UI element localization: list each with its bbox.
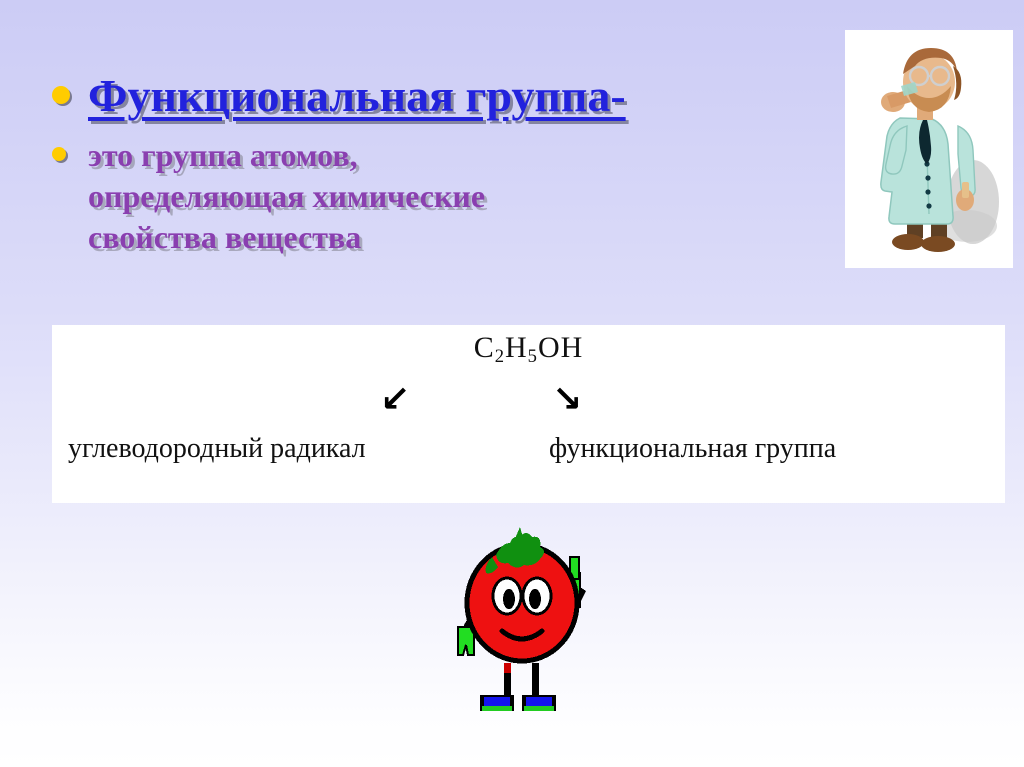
bullet-dot-icon (52, 147, 66, 161)
arrow-down-right-icon: ↘ (552, 382, 582, 418)
bullet-dot-icon (52, 86, 70, 104)
formula-sub-2: 2 (495, 346, 505, 367)
tomato-character-frame (452, 523, 612, 728)
bullet-text-primary: Функциональная группа- (88, 72, 626, 121)
formula-h: H (505, 331, 528, 364)
bullet-list: Функциональная группа- это группа атомов… (52, 72, 852, 258)
label-hydrocarbon-radical: углеводородный радикал (68, 433, 366, 465)
tomato-character-illustration (452, 523, 612, 728)
arrow-down-left-icon: ↙ (380, 382, 410, 418)
formula-panel: C2H5OH ↙ ↘ углеводородный радикал функци… (52, 325, 1005, 503)
scientist-image-frame (845, 30, 1013, 268)
formula-oh: OH (538, 331, 583, 364)
scientist-illustration (845, 30, 1013, 268)
label-functional-group: функциональная группа (549, 433, 836, 465)
bullet-item-2: это группа атомов, определяющая химическ… (52, 135, 852, 258)
bullet-item-1: Функциональная группа- (52, 72, 852, 121)
chemical-formula: C2H5OH (52, 331, 1005, 368)
formula-sub-5: 5 (528, 346, 538, 367)
formula-c: C (474, 331, 495, 364)
bullet-text-secondary: это группа атомов, определяющая химическ… (88, 135, 558, 258)
slide-canvas: Функциональная группа- это группа атомов… (0, 0, 1024, 767)
